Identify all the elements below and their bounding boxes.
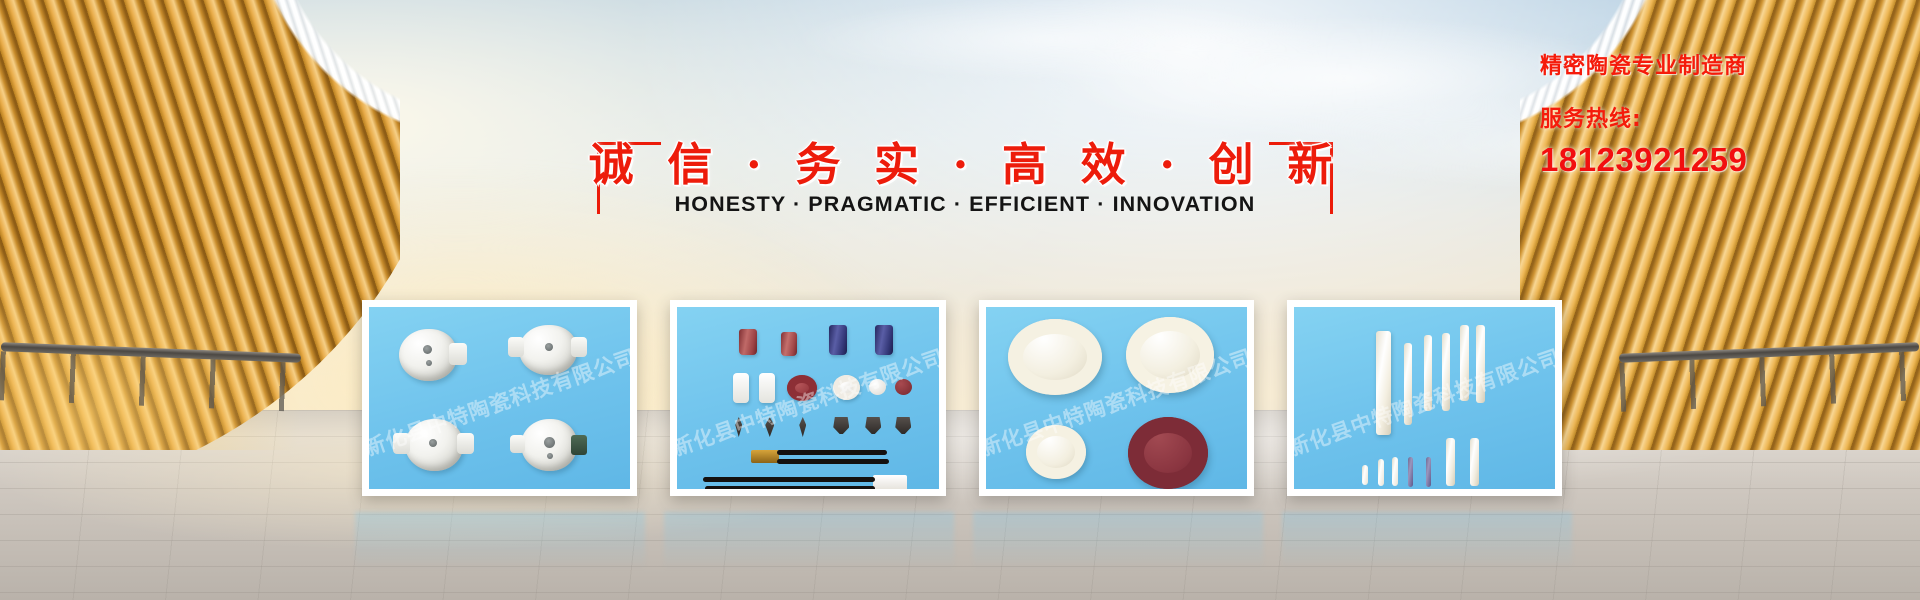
lamp-holder-3 (405, 419, 463, 471)
product-panel-sleeves-harness[interactable]: 新化县中特陶瓷科技有限公司 (670, 300, 945, 496)
ceramic-ring-large-2 (1126, 317, 1214, 393)
ceramic-rod-medium-2 (1470, 438, 1479, 486)
product-panel-row: 新化县中特陶瓷科技有限公司 (362, 300, 1562, 505)
hotline-label: 服务热线: (1540, 101, 1840, 133)
ceramic-rod-purple-1 (1408, 457, 1413, 487)
slogan-chinese: 诚 信 · 务 实 · 高 效 · 创 新 (575, 128, 1355, 193)
wire-lead-4 (705, 486, 875, 491)
manufacturer-tagline: 精密陶瓷专业制造商 (1540, 48, 1840, 80)
product-panel-lamp-holders[interactable]: 新化县中特陶瓷科技有限公司 (362, 300, 637, 496)
ceramic-rod-purple-2 (1426, 457, 1431, 487)
wire-connector-block (873, 475, 907, 492)
ceramic-sleeve-blue-2 (875, 325, 893, 355)
ceramic-rod-medium-1 (1446, 438, 1455, 486)
ceramic-rod-1 (1404, 343, 1412, 425)
panel-reflection-4 (1282, 512, 1572, 582)
slogan-english: HONESTY · PRAGMATIC · EFFICIENT · INNOVA… (575, 192, 1355, 217)
wire-harness-connector (751, 450, 779, 463)
panel-reflection-1 (355, 512, 645, 582)
product-panel-ceramic-rings[interactable]: 新化县中特陶瓷科技有限公司 (979, 300, 1254, 496)
panel-reflection-2 (664, 512, 954, 582)
ceramic-sleeve-red-1 (739, 329, 757, 355)
promotional-banner: 诚 信 · 务 实 · 高 效 · 创 新 HONESTY · PRAGMATI… (0, 0, 1920, 600)
ceramic-sleeve-red-2 (781, 332, 797, 356)
ceramic-rod-short-3 (1392, 457, 1398, 486)
lamp-holder-2 (519, 325, 577, 375)
ceramic-plate-1 (733, 373, 749, 403)
ceramic-rod-short-2 (1378, 459, 1384, 486)
lamp-holder-1 (399, 329, 457, 381)
left-railing (0, 342, 301, 411)
ceramic-rod-4 (1460, 325, 1469, 401)
ceramic-rod-3 (1442, 333, 1450, 411)
lamp-holder-contact (571, 435, 587, 455)
slogan-block: 诚 信 · 务 实 · 高 效 · 创 新 HONESTY · PRAGMATI… (575, 120, 1355, 250)
ceramic-ring-large-1 (1008, 319, 1102, 395)
ceramic-sleeve-blue-1 (829, 325, 847, 355)
contact-block: 精密陶瓷专业制造商 服务热线: 18123921259 (1540, 48, 1840, 179)
ceramic-rod-short-1 (1362, 465, 1368, 485)
ceramic-rod-5 (1476, 325, 1485, 403)
ceramic-ring-small (1026, 425, 1086, 479)
ceramic-rod-2 (1424, 335, 1432, 411)
ceramic-ring-dark-red (1128, 417, 1208, 489)
ceramic-plate-2 (759, 373, 775, 403)
wire-harness-lead-2 (777, 459, 889, 464)
wire-harness-lead-1 (777, 450, 887, 455)
ceramic-rod-thick (1376, 331, 1391, 435)
product-panel-ceramic-rods[interactable]: 新化县中特陶瓷科技有限公司 (1287, 300, 1562, 496)
lamp-holder-4 (521, 419, 577, 471)
wire-lead-3 (703, 477, 875, 482)
right-railing (1619, 342, 1920, 411)
panel-reflection-3 (973, 512, 1263, 582)
hotline-number[interactable]: 18123921259 (1540, 141, 1840, 179)
